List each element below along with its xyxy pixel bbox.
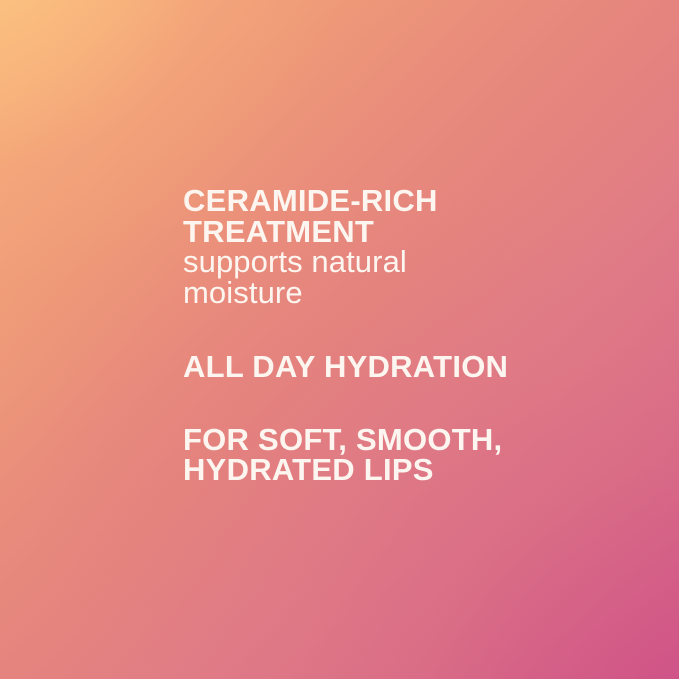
claim-headline: FOR SOFT, SMOOTH, HYDRATED LIPS [183,425,623,486]
claim-item-ceramide-rich-treatment: CERAMIDE-RICH TREATMENT supports natural… [183,186,623,308]
claim-headline: CERAMIDE-RICH TREATMENT [183,186,623,247]
claim-subline: supports natural moisture [183,247,623,308]
product-benefit-graphic: CERAMIDE-RICH TREATMENT supports natural… [0,0,679,679]
claim-headline: ALL DAY HYDRATION [183,352,623,383]
benefit-claims-list: CERAMIDE-RICH TREATMENT supports natural… [183,186,623,486]
claim-spacer [183,383,623,425]
claim-item-soft-smooth-hydrated-lips: FOR SOFT, SMOOTH, HYDRATED LIPS [183,425,623,486]
claim-item-all-day-hydration: ALL DAY HYDRATION [183,352,623,383]
claim-spacer [183,308,623,352]
